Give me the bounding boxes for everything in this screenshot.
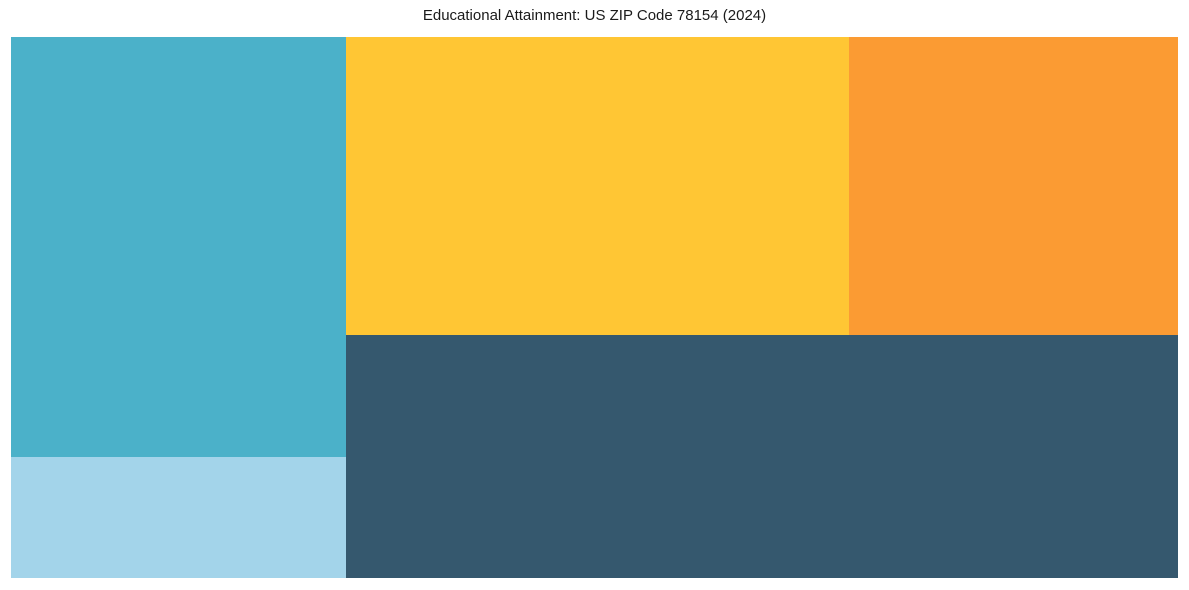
page-title: Educational Attainment: US ZIP Code 7815… (0, 6, 1189, 26)
treemap-tile-some-college-no-degree[interactable]: Some college, no degree (11, 37, 346, 457)
treemap-tile-graduate-or-professional-degree[interactable]: Graduate or professional degree (11, 457, 346, 578)
treemap-plot-area: Some college, no degree Graduate or prof… (11, 37, 1178, 578)
treemap-tile-associates-degree[interactable]: Associate's degree (849, 37, 1178, 335)
treemap-figure: Educational Attainment: US ZIP Code 7815… (0, 0, 1189, 590)
treemap-tile-high-school-graduate-or-equivalent[interactable]: High school graduate or equivalent (346, 335, 1178, 578)
treemap-tile-bachelors-degree[interactable]: Bachelor's degree (346, 37, 849, 335)
